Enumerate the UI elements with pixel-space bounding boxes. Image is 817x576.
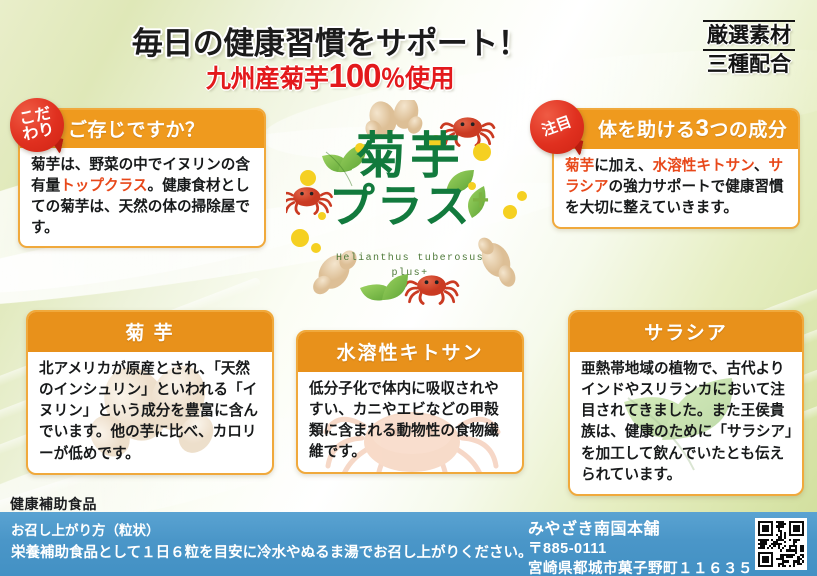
info-panel-three-ingredients: 体を助ける3つの成分 菊芋に加え、水溶性キトサン、サラシアの強力サポートで健康習… xyxy=(552,108,800,229)
panel-body: 菊芋に加え、水溶性キトサン、サラシアの強力サポートで健康習慣を大切に整えていきま… xyxy=(554,149,798,227)
ingredient-card-chitosan: 水溶性キトサン 低分子化で体内に吸収されやすい、カニやエビなどの甲殻類に含まれる… xyxy=(296,330,524,474)
usage-text: 栄養補助食品として１日６粒を目安に冷水やぬるま湯でお召し上がりください。 xyxy=(11,545,533,561)
company-address: 宮崎県都城市菓子野町１１６３５ xyxy=(528,560,753,576)
food-category-label: 健康補助食品 xyxy=(10,494,97,514)
ingredient-highlight-2: 水溶性キトサン xyxy=(653,158,754,174)
latin-line-1: Helianthus tuberosus xyxy=(336,253,484,264)
logo-latin-name: Helianthus tuberosus plus+ xyxy=(286,252,534,281)
subtitle-percent-number: 100 xyxy=(328,57,380,94)
heading-prefix: 体を助ける xyxy=(598,120,696,141)
body-highlight: トップクラス xyxy=(60,178,147,194)
card-title: サラシア xyxy=(570,312,802,352)
product-logo-ring: 菊芋 プラス+ Helianthus tuberosus plus+ xyxy=(286,100,534,312)
company-postal-code: 〒885-0111 xyxy=(528,540,753,559)
logo-line-1: 菊芋 xyxy=(286,132,534,181)
card-body: 低分子化で体内に吸収されやすい、カニやエビなどの甲殻類に含まれる動物性の食物繊維… xyxy=(298,372,522,472)
ingredient-card-salacia: サラシア 亜熱帯地域の植物で、古代よりインドやスリランカにおいて注目されてきまし… xyxy=(568,310,804,496)
premium-material-badge: 厳選素材 三種配合 xyxy=(703,20,795,77)
kodawari-sticker-badge: こだ わり xyxy=(10,98,64,152)
badge-line-1: 厳選素材 xyxy=(703,20,795,51)
card-title: 菊 芋 xyxy=(28,312,272,352)
company-info: みやざき南国本舗 〒885-0111 宮崎県都城市菓子野町１１６３５ xyxy=(528,519,753,576)
latin-line-2: plus+ xyxy=(391,268,428,279)
ingredient-highlight-1: 菊芋 xyxy=(565,158,594,174)
body-text-part-1: に加え、 xyxy=(594,158,652,174)
subtitle-suffix: ％使用 xyxy=(381,65,455,93)
chumoku-sticker-badge: 注目 xyxy=(530,100,584,154)
heading-suffix: つの成分 xyxy=(709,120,787,141)
sticker-label: こだ わり xyxy=(5,93,69,157)
ingredient-card-kikuimo: 菊 芋 北アメリカが原産とされ、「天然のインシュリン」といわれる「イヌリン」とい… xyxy=(26,310,274,475)
card-body: 亜熱帯地域の植物で、古代よりインドやスリランカにおいて注目されてきました。また王… xyxy=(570,352,802,494)
sticker-line-2: わり xyxy=(21,122,56,145)
page-subtitle: 九州産菊芋100％使用 xyxy=(0,57,660,95)
body-text-part-2: 、 xyxy=(754,158,769,174)
card-body: 北アメリカが原産とされ、「天然のインシュリン」といわれる「イヌリン」という成分を… xyxy=(28,352,272,473)
logo-line-2: プラス+ xyxy=(286,184,534,229)
qr-code-matrix xyxy=(758,521,804,567)
usage-title: お召し上がり方（粒状） xyxy=(11,523,160,538)
heading-number: 3 xyxy=(696,115,710,142)
company-name: みやざき南国本舗 xyxy=(528,519,753,540)
dot-decoration xyxy=(291,229,309,247)
header: 毎日の健康習慣をサポート！ 九州産菊芋100％使用 厳選素材 三種配合 xyxy=(0,0,817,95)
panel-body: 菊芋は、野菜の中でイヌリンの含有量トップクラス。健康食材としての菊芋は、天然の体… xyxy=(20,148,264,246)
logo-wordmark: 菊芋 プラス+ xyxy=(286,132,534,229)
logo-plus-mark: + xyxy=(472,184,492,217)
usage-instructions: お召し上がり方（粒状） 栄養補助食品として１日６粒を目安に冷水やぬるま湯でお召し… xyxy=(11,521,533,564)
qr-code[interactable] xyxy=(755,518,807,570)
card-title: 水溶性キトサン xyxy=(298,332,522,372)
subtitle-prefix: 九州産菊芋 xyxy=(206,65,329,93)
product-label-canvas: 毎日の健康習慣をサポート！ 九州産菊芋100％使用 厳選素材 三種配合 xyxy=(0,0,817,576)
badge-line-2: 三種配合 xyxy=(703,51,795,78)
